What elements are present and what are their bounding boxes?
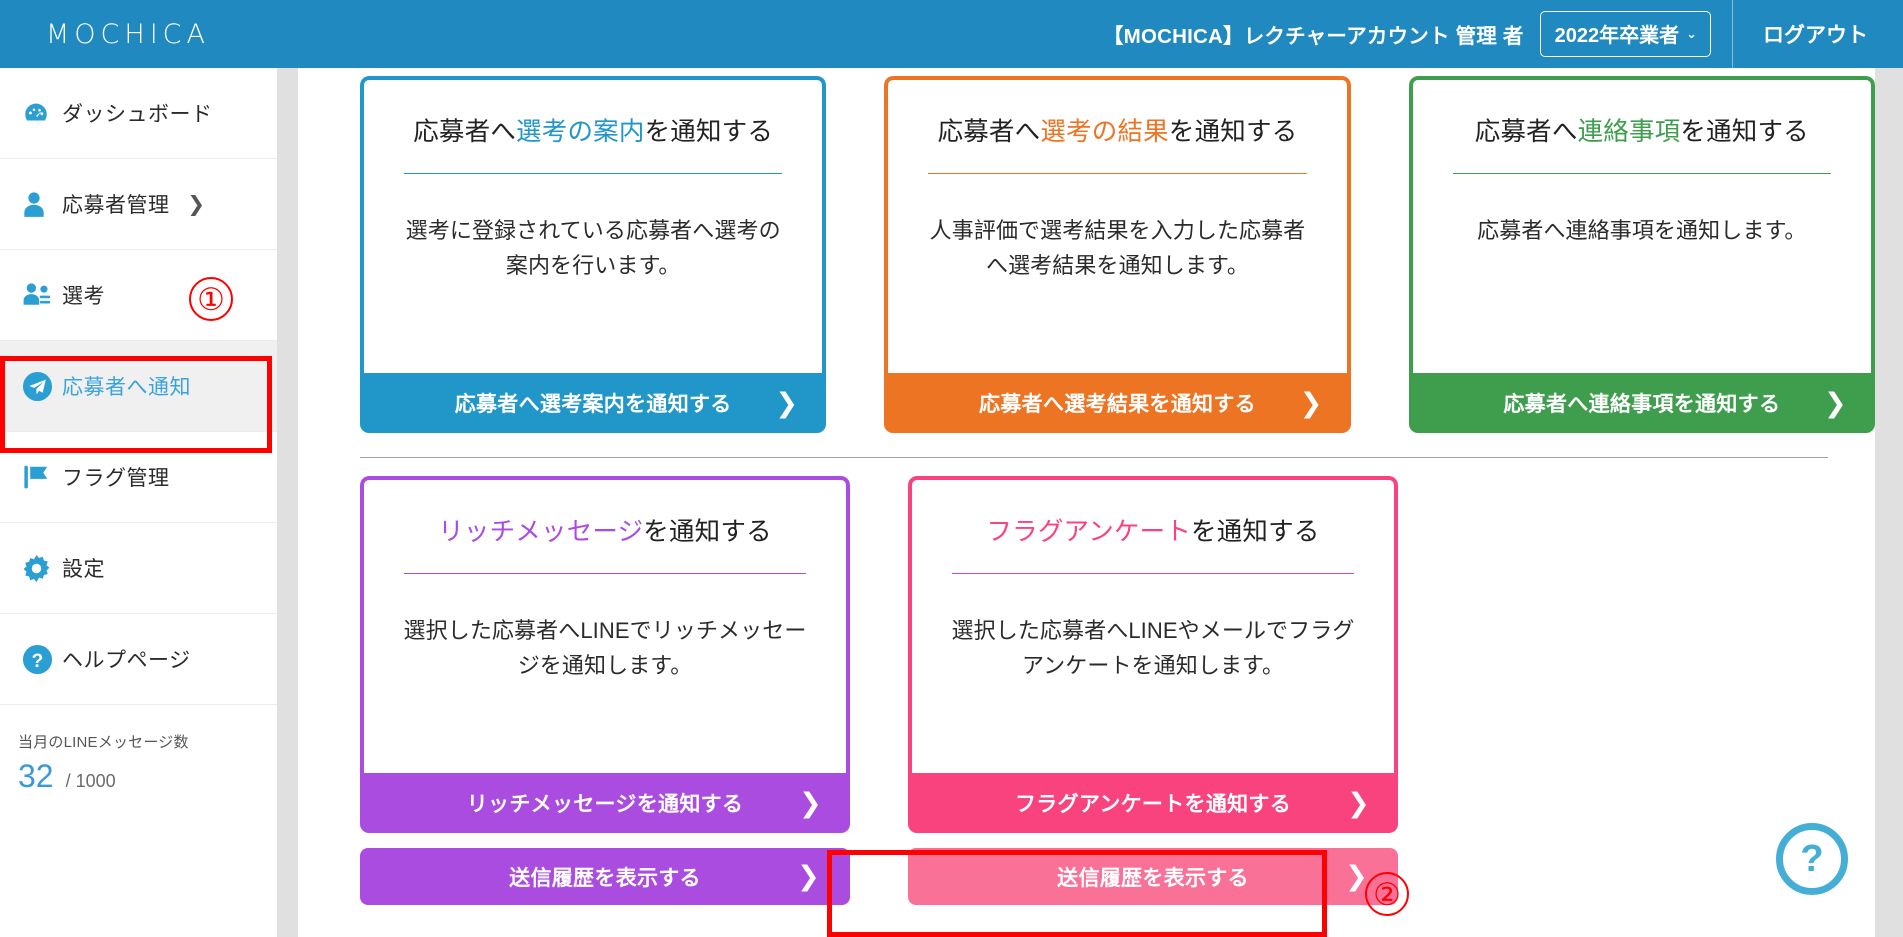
card-title: リッチメッセージを通知する [398,514,812,551]
sidebar-item-notify-applicants[interactable]: 応募者へ通知 [0,341,277,432]
button-label: フラグアンケートを通知する [1015,788,1291,818]
button-label: 送信履歴を表示する [1057,862,1249,892]
app-header: MOCHICA 【MOCHICA】レクチャーアカウント 管理 者 2022年卒業… [0,0,1903,68]
card-title: 応募者へ選考の案内を通知する [398,114,788,151]
sidebar-item-flag-management[interactable]: フラグ管理 [0,432,277,523]
card-title-post: を通知する [1680,118,1809,146]
mochica-logo: MOCHICA [0,19,292,50]
card-title-highlight: 連絡事項 [1578,118,1681,146]
sidebar-item-label: 選考 [62,280,105,310]
gear-icon [22,554,62,583]
card-description: 選択した応募者へLINEやメールでフラグアンケートを通知します。 [946,614,1360,682]
sidebar: ダッシュボード 応募者管理 ❯ 選考 [0,68,277,937]
card-title-pre: 応募者へ [938,118,1041,146]
card-title-pre: 応募者へ [1475,118,1578,146]
main-content: 応募者へ選考の案内を通知する 選考に登録されている応募者へ選考の案内を行います。… [298,68,1875,937]
button-label: リッチメッセージを通知する [467,788,743,818]
card-title: 応募者へ選考の結果を通知する [922,114,1312,151]
content-left-gutter [277,68,298,937]
sidebar-item-label: 設定 [62,553,105,583]
button-label: 応募者へ連絡事項を通知する [1503,388,1780,418]
card-rich-message: リッチメッセージを通知する 選択した応募者へLINEでリッチメッセージを通知しま… [360,476,850,833]
card-body: 応募者へ連絡事項を通知する 応募者へ連絡事項を通知します。 [1409,76,1875,373]
history-button-row: 送信履歴を表示する ❯ 送信履歴を表示する ❯ [298,848,1875,905]
sidebar-item-selection[interactable]: 選考 [0,250,277,341]
sidebar-item-label: 応募者管理 [62,189,170,219]
button-label: 応募者へ選考結果を通知する [979,388,1256,418]
account-name: 【MOCHICA】レクチャーアカウント 管理 者 [1103,19,1524,49]
button-label: 送信履歴を表示する [509,862,701,892]
sidebar-item-label: 応募者へ通知 [62,371,191,401]
card-description: 人事評価で選考結果を入力した応募者へ選考結果を通知します。 [922,214,1312,282]
question-mark-icon: ? [1800,838,1823,881]
card-title-post: を通知する [1191,518,1320,546]
card-divider [404,573,806,574]
flag-survey-history-button[interactable]: 送信履歴を表示する ❯ [908,848,1398,905]
card-title-post: を通知する [1169,118,1298,146]
card-divider [1453,173,1831,174]
header-right-group: 【MOCHICA】レクチャーアカウント 管理 者 2022年卒業者 ⌄ ログアウ… [292,0,1903,68]
card-title-highlight: リッチメッセージ [438,518,643,546]
help-fab-button[interactable]: ? [1776,823,1848,895]
flag-icon [22,463,62,491]
graduation-year-select[interactable]: 2022年卒業者 ⌄ [1540,11,1711,57]
notify-flag-survey-button[interactable]: フラグアンケートを通知する ❯ [908,773,1398,833]
app-root: MOCHICA 【MOCHICA】レクチャーアカウント 管理 者 2022年卒業… [0,0,1903,937]
svg-text:?: ? [32,650,44,671]
notify-selection-result-button[interactable]: 応募者へ選考結果を通知する ❯ [884,373,1350,433]
card-title: 応募者へ連絡事項を通知する [1447,114,1837,151]
paper-plane-icon [22,371,62,402]
line-counter-current: 32 [18,758,54,795]
sidebar-item-dashboard[interactable]: ダッシュボード [0,68,277,159]
card-body: 応募者へ選考の結果を通知する 人事評価で選考結果を入力した応募者へ選考結果を通知… [884,76,1350,373]
card-flag-survey: フラグアンケートを通知する 選択した応募者へLINEやメールでフラグアンケートを… [908,476,1398,833]
chevron-right-icon: ❯ [1345,863,1368,890]
logout-button[interactable]: ログアウト [1733,19,1903,49]
chevron-down-icon: ⌄ [1686,27,1697,40]
card-divider [952,573,1354,574]
card-title-pre: 応募者へ [413,118,516,146]
sidebar-item-applicants[interactable]: 応募者管理 ❯ [0,159,277,250]
sidebar-item-label: フラグ管理 [62,462,170,492]
notify-contact-notice-button[interactable]: 応募者へ連絡事項を通知する ❯ [1409,373,1875,433]
page-scrollbar[interactable] [1875,68,1903,937]
graduation-year-value: 2022年卒業者 [1555,19,1680,48]
card-body: 応募者へ選考の案内を通知する 選考に登録されている応募者へ選考の案内を行います。 [360,76,826,373]
card-divider [404,173,782,174]
line-message-counter: 当月のLINEメッセージ数 32 / 1000 [0,705,277,795]
chevron-right-icon: ❯ [797,863,820,890]
sidebar-item-help-page[interactable]: ? ヘルプページ [0,614,277,705]
sidebar-item-settings[interactable]: 設定 [0,523,277,614]
card-description: 選考に登録されている応募者へ選考の案内を行います。 [398,214,788,282]
notification-card-row-primary: 応募者へ選考の案内を通知する 選考に登録されている応募者へ選考の案内を行います。… [298,68,1875,433]
rich-message-history-button[interactable]: 送信履歴を表示する ❯ [360,848,850,905]
card-contact-notice: 応募者へ連絡事項を通知する 応募者へ連絡事項を通知します。 応募者へ連絡事項を通… [1409,76,1875,433]
card-selection-result: 応募者へ選考の結果を通知する 人事評価で選考結果を入力した応募者へ選考結果を通知… [884,76,1350,433]
line-counter-values: 32 / 1000 [18,758,277,795]
notification-card-row-secondary: リッチメッセージを通知する 選択した応募者へLINEでリッチメッセージを通知しま… [298,458,1875,833]
chevron-right-icon: ❯ [187,192,205,217]
sidebar-item-label: ヘルプページ [62,644,191,674]
users-icon [22,282,62,308]
card-title-highlight: 選考の結果 [1040,118,1169,146]
notify-rich-message-button[interactable]: リッチメッセージを通知する ❯ [360,773,850,833]
card-title-highlight: 選考の案内 [516,118,645,146]
card-divider [928,173,1306,174]
dashboard-icon [22,99,62,127]
chevron-right-icon: ❯ [775,390,798,417]
sidebar-item-label: ダッシュボード [62,98,213,128]
card-title-post: を通知する [645,118,774,146]
card-title-highlight: フラグアンケート [986,518,1191,546]
card-body: フラグアンケートを通知する 選択した応募者へLINEやメールでフラグアンケートを… [908,476,1398,773]
line-counter-label: 当月のLINEメッセージ数 [18,731,277,752]
notify-selection-guide-button[interactable]: 応募者へ選考案内を通知する ❯ [360,373,826,433]
chevron-right-icon: ❯ [1347,790,1370,817]
chevron-right-icon: ❯ [799,790,822,817]
button-label: 応募者へ選考案内を通知する [455,388,732,418]
user-icon [22,191,62,218]
card-description: 選択した応募者へLINEでリッチメッセージを通知します。 [398,614,812,682]
chevron-right-icon: ❯ [1300,390,1323,417]
card-body: リッチメッセージを通知する 選択した応募者へLINEでリッチメッセージを通知しま… [360,476,850,773]
question-circle-icon: ? [22,644,62,675]
line-counter-max: / 1000 [66,771,116,792]
card-title-post: を通知する [643,518,772,546]
card-selection-guide: 応募者へ選考の案内を通知する 選考に登録されている応募者へ選考の案内を行います。… [360,76,826,433]
chevron-right-icon: ❯ [1824,390,1847,417]
card-title: フラグアンケートを通知する [946,514,1360,551]
card-description: 応募者へ連絡事項を通知します。 [1447,214,1837,248]
